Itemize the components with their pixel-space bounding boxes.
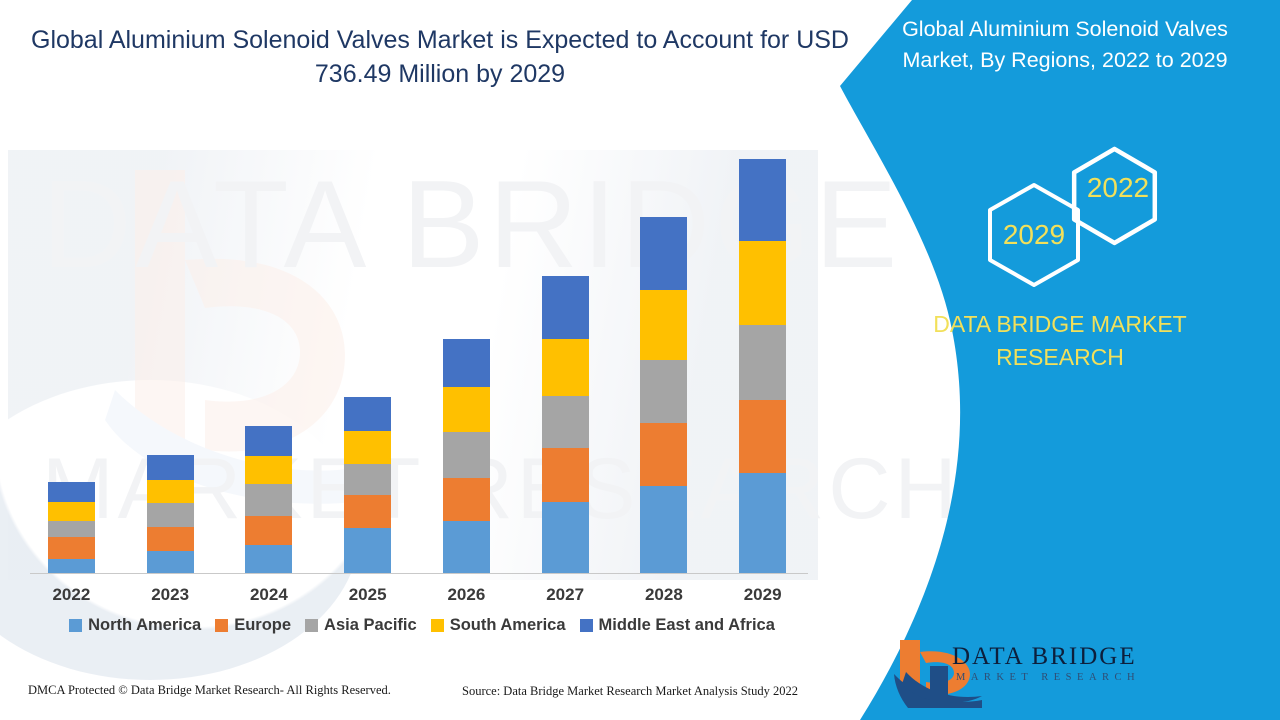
bar-segment-south-america[interactable] [245,456,292,484]
legend-label: Asia Pacific [324,616,417,635]
bar-segment-south-america[interactable] [344,431,391,464]
bar-stack [48,482,95,573]
bar-segment-asia-pacific[interactable] [48,521,95,538]
x-axis-label-2022: 2022 [24,585,119,605]
bar-segment-asia-pacific[interactable] [640,360,687,422]
legend-swatch-icon [215,619,228,632]
x-axis-label-2023: 2023 [123,585,218,605]
bar-segment-asia-pacific[interactable] [245,484,292,516]
hexagon-label-2029: 2029 [1003,219,1065,250]
brand-line-1: DATA BRIDGE MARKET [933,311,1186,337]
bar-segment-middle-east-and-africa[interactable] [344,397,391,430]
bar-segment-north-america[interactable] [443,521,490,573]
brand-name: DATA BRIDGE MARKET RESEARCH [860,308,1260,375]
right-panel-title: Global Aluminium Solenoid Valves Market,… [870,14,1260,76]
bar-segment-asia-pacific[interactable] [739,325,786,401]
bar-segment-south-america[interactable] [48,502,95,521]
legend-label: Europe [234,616,291,635]
bar-segment-middle-east-and-africa[interactable] [739,159,786,241]
chart-legend: North AmericaEuropeAsia PacificSouth Ame… [22,616,822,635]
bar-segment-middle-east-and-africa[interactable] [542,276,589,339]
bar-stack [443,339,490,573]
right-brand-panel: Global Aluminium Solenoid Valves Market,… [840,0,1280,720]
bar-stack [147,455,194,573]
bar-segment-south-america[interactable] [542,339,589,396]
bar-segment-europe[interactable] [245,516,292,545]
x-axis-label-2027: 2027 [518,585,613,605]
x-axis-line [30,573,808,574]
bar-segment-north-america[interactable] [542,502,589,573]
bar-segment-europe[interactable] [443,478,490,520]
bar-segment-asia-pacific[interactable] [147,503,194,527]
bar-segment-europe[interactable] [640,423,687,486]
bar-segment-south-america[interactable] [739,241,786,324]
legend-label: Middle East and Africa [599,616,775,635]
logo-subwordmark: MARKET RESEARCH [956,672,1140,683]
legend-item-europe[interactable]: Europe [215,616,291,635]
x-axis-label-2025: 2025 [320,585,415,605]
footer: DMCA Protected © Data Bridge Market Rese… [0,683,860,713]
x-axis-label-2024: 2024 [221,585,316,605]
bar-segment-middle-east-and-africa[interactable] [245,426,292,456]
bar-segment-south-america[interactable] [147,480,194,503]
logo-wordmark: DATA BRIDGE [952,643,1137,671]
bar-segment-north-america[interactable] [640,486,687,573]
hexagon-label-2022: 2022 [1087,172,1149,203]
footer-dmca-text: DMCA Protected © Data Bridge Market Rese… [28,683,391,698]
bar-segment-europe[interactable] [147,527,194,550]
bar-segment-south-america[interactable] [640,290,687,360]
legend-swatch-icon [69,619,82,632]
legend-swatch-icon [431,619,444,632]
legend-swatch-icon [580,619,593,632]
stacked-bar-chart [22,150,812,574]
bar-column-2024[interactable] [221,426,316,573]
bar-segment-asia-pacific[interactable] [443,432,490,479]
bar-column-2027[interactable] [518,276,613,573]
bar-segment-asia-pacific[interactable] [542,396,589,448]
bar-column-2023[interactable] [123,455,218,573]
bar-segment-north-america[interactable] [739,473,786,573]
bar-column-2029[interactable] [715,159,810,573]
bar-segment-north-america[interactable] [48,559,95,573]
bar-stack [542,276,589,573]
infographic-canvas: DATA BRIDGE MARKET RESEARCH Global Alumi… [0,0,1280,720]
legend-item-asia-pacific[interactable]: Asia Pacific [305,616,417,635]
bar-column-2025[interactable] [320,397,415,573]
legend-item-north-america[interactable]: North America [69,616,201,635]
bar-segment-middle-east-and-africa[interactable] [147,455,194,479]
bar-segment-middle-east-and-africa[interactable] [48,482,95,502]
bar-segment-north-america[interactable] [245,545,292,573]
bar-stack [344,397,391,573]
bar-segment-europe[interactable] [739,400,786,472]
hexagon-badges: 2022 2029 [840,130,1280,290]
bar-stack [739,159,786,573]
bar-segment-middle-east-and-africa[interactable] [443,339,490,387]
legend-swatch-icon [305,619,318,632]
footer-source-text: Source: Data Bridge Market Research Mark… [462,684,798,699]
bar-stack [245,426,292,573]
x-axis-labels: 20222023202420252026202720282029 [22,585,812,605]
bar-segment-north-america[interactable] [344,528,391,573]
legend-item-middle-east-and-africa[interactable]: Middle East and Africa [580,616,775,635]
legend-label: South America [450,616,566,635]
legend-label: North America [88,616,201,635]
left-content-panel: DATA BRIDGE MARKET RESEARCH Global Alumi… [0,0,900,720]
bar-segment-asia-pacific[interactable] [344,464,391,495]
page-title: Global Aluminium Solenoid Valves Market … [30,24,850,92]
x-axis-label-2026: 2026 [419,585,514,605]
bar-segment-europe[interactable] [542,448,589,501]
bar-column-2022[interactable] [24,482,119,573]
chart-bars-container [22,150,812,573]
bar-segment-north-america[interactable] [147,551,194,573]
bar-stack [640,217,687,573]
bar-column-2028[interactable] [616,217,711,573]
brand-line-2: RESEARCH [996,344,1124,370]
bar-segment-europe[interactable] [344,495,391,528]
x-axis-label-2029: 2029 [715,585,810,605]
x-axis-label-2028: 2028 [616,585,711,605]
bar-segment-south-america[interactable] [443,387,490,432]
bar-column-2026[interactable] [419,339,514,573]
bar-segment-middle-east-and-africa[interactable] [640,217,687,290]
bar-segment-europe[interactable] [48,537,95,558]
legend-item-south-america[interactable]: South America [431,616,566,635]
